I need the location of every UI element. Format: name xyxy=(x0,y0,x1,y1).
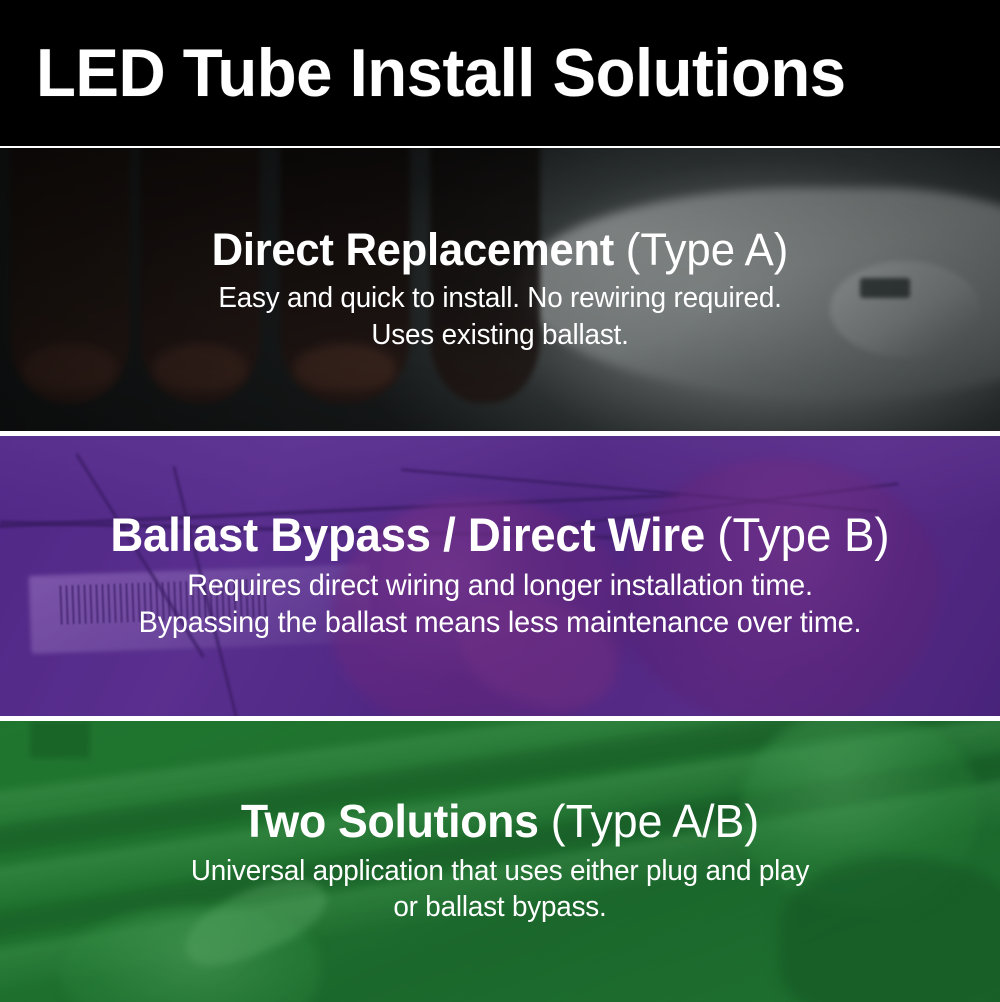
panel-type-a-heading-main: Direct Replacement xyxy=(212,224,614,275)
panel-type-ab-content: Two Solutions (Type A/B) Universal appli… xyxy=(0,797,1000,926)
panel-type-ab-heading-main: Two Solutions xyxy=(241,795,539,847)
page-title: LED Tube Install Solutions xyxy=(36,39,846,107)
panel-type-b-heading: Ballast Bypass / Direct Wire (Type B) xyxy=(42,510,958,561)
panel-type-a-subtitle-line-1: Easy and quick to install. No rewiring r… xyxy=(47,280,953,317)
mounting-bracket-shape xyxy=(30,721,90,758)
panel-type-a-subtitle-line-2: Uses existing ballast. xyxy=(47,317,953,354)
panel-type-b-content: Ballast Bypass / Direct Wire (Type B) Re… xyxy=(0,510,1000,642)
panel-type-a-heading-suffix: (Type A) xyxy=(626,224,789,275)
panel-type-b-heading-main: Ballast Bypass / Direct Wire xyxy=(110,508,705,561)
panel-type-ab-subtitle: Universal application that uses either p… xyxy=(47,853,953,926)
panel-type-a-content: Direct Replacement (Type A) Easy and qui… xyxy=(0,226,1000,354)
panel-type-ab-subtitle-line-2: or ballast bypass. xyxy=(47,889,953,926)
panel-type-a: Direct Replacement (Type A) Easy and qui… xyxy=(0,148,1000,431)
panel-type-b-heading-suffix: (Type B) xyxy=(717,508,889,561)
panel-type-b-subtitle: Requires direct wiring and longer instal… xyxy=(47,567,953,643)
panel-type-a-subtitle: Easy and quick to install. No rewiring r… xyxy=(47,280,953,353)
panel-type-b-subtitle-line-2: Bypassing the ballast means less mainten… xyxy=(47,604,953,642)
panel-type-a-heading: Direct Replacement (Type A) xyxy=(42,226,958,275)
panel-type-ab-heading-suffix: (Type A/B) xyxy=(551,795,759,847)
panel-type-ab: Two Solutions (Type A/B) Universal appli… xyxy=(0,721,1000,1002)
panel-type-b: Ballast Bypass / Direct Wire (Type B) Re… xyxy=(0,436,1000,716)
panel-type-b-subtitle-line-1: Requires direct wiring and longer instal… xyxy=(47,567,953,605)
panel-type-ab-heading: Two Solutions (Type A/B) xyxy=(42,797,958,847)
wire-shape-3 xyxy=(401,468,879,513)
header-band: LED Tube Install Solutions xyxy=(0,0,1000,146)
led-tube-install-solutions-infographic: LED Tube Install Solutions Direct Replac… xyxy=(0,0,1000,1000)
panel-type-ab-subtitle-line-1: Universal application that uses either p… xyxy=(47,853,953,890)
